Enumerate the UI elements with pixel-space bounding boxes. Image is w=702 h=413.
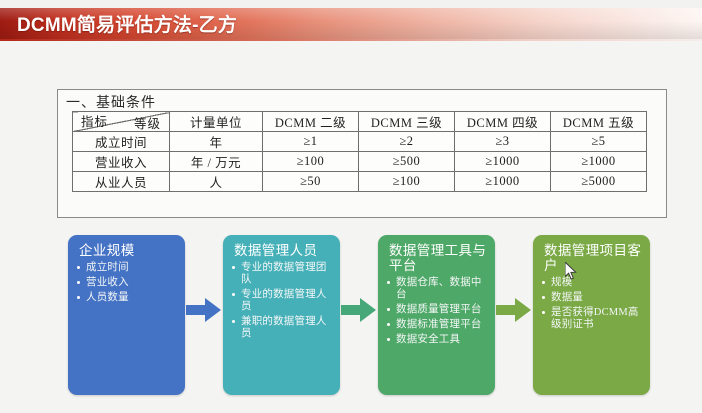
flow-card-company-scale: 企业规模 成立时间 营业收入 人员数量 bbox=[68, 235, 185, 395]
cell-level-3: ≥100 bbox=[359, 172, 455, 192]
evaluation-flow-diagram: 企业规模 成立时间 营业收入 人员数量 数据管理人员 专业的数据管理团队 专业的… bbox=[0, 235, 702, 400]
section-heading: 一、基础条件 bbox=[66, 92, 156, 112]
flow-arrow-3-icon bbox=[496, 297, 532, 323]
cell-indicator: 营业收入 bbox=[73, 152, 170, 172]
flow-card-bullet-list: 数据仓库、数据中台 数据质量管理平台 数据标准管理平台 数据安全工具 bbox=[387, 277, 487, 346]
flow-arrow-2-icon bbox=[341, 297, 377, 323]
column-header-level-5: DCMM 五级 bbox=[551, 112, 647, 132]
cell-unit: 人 bbox=[170, 172, 263, 192]
cell-unit: 年 bbox=[170, 132, 263, 152]
title-banner: DCMM简易评估方法-乙方 bbox=[0, 8, 702, 39]
cell-level-3: ≥2 bbox=[359, 132, 455, 152]
mouse-cursor-icon bbox=[565, 262, 578, 281]
list-item: 专业的数据管理人员 bbox=[232, 289, 332, 313]
cell-level-5: ≥1000 bbox=[551, 152, 647, 172]
page-title: DCMM简易评估方法-乙方 bbox=[17, 10, 237, 37]
cell-level-4: ≥3 bbox=[455, 132, 551, 152]
flow-card-bullet-list: 专业的数据管理团队 专业的数据管理人员 兼职的数据管理人员 bbox=[232, 262, 332, 340]
column-header-level-4: DCMM 四级 bbox=[455, 112, 551, 132]
list-item: 人员数量 bbox=[77, 292, 177, 304]
flow-card-project-clients: 数据管理项目客户 规模 数据量 是否获得DCMM高级别证书 bbox=[533, 235, 650, 395]
flow-card-bullet-list: 规模 数据量 是否获得DCMM高级别证书 bbox=[542, 277, 642, 331]
list-item: 是否获得DCMM高级别证书 bbox=[542, 307, 642, 331]
cell-indicator: 成立时间 bbox=[73, 132, 170, 152]
basis-conditions-table: 等级 指标 计量单位 DCMM 二级 DCMM 三级 DCMM 四级 DCMM … bbox=[72, 111, 647, 192]
table-corner-cell: 等级 指标 bbox=[73, 112, 170, 132]
table-row: 营业收入 年 / 万元 ≥100 ≥500 ≥1000 ≥1000 bbox=[73, 152, 647, 172]
list-item: 数据质量管理平台 bbox=[387, 304, 487, 316]
column-header-level-2: DCMM 二级 bbox=[263, 112, 359, 132]
list-item: 成立时间 bbox=[77, 262, 177, 274]
cell-level-2: ≥1 bbox=[263, 132, 359, 152]
cell-level-5: ≥5 bbox=[551, 132, 647, 152]
list-item: 数据安全工具 bbox=[387, 334, 487, 346]
corner-level-label: 等级 bbox=[134, 113, 161, 132]
flow-card-title: 企业规模 bbox=[79, 243, 177, 258]
cell-level-3: ≥500 bbox=[359, 152, 455, 172]
list-item: 数据仓库、数据中台 bbox=[387, 277, 487, 301]
flow-card-title: 数据管理人员 bbox=[234, 243, 332, 258]
cell-level-5: ≥5000 bbox=[551, 172, 647, 192]
cell-level-2: ≥50 bbox=[263, 172, 359, 192]
flow-card-bullet-list: 成立时间 营业收入 人员数量 bbox=[77, 262, 177, 304]
table-row: 成立时间 年 ≥1 ≥2 ≥3 ≥5 bbox=[73, 132, 647, 152]
cell-level-4: ≥1000 bbox=[455, 172, 551, 192]
flow-card-tools-platform: 数据管理工具与平台 数据仓库、数据中台 数据质量管理平台 数据标准管理平台 数据… bbox=[378, 235, 495, 395]
cell-unit: 年 / 万元 bbox=[170, 152, 263, 172]
list-item: 兼职的数据管理人员 bbox=[232, 316, 332, 340]
column-header-unit: 计量单位 bbox=[170, 112, 263, 132]
list-item: 数据量 bbox=[542, 292, 642, 304]
flow-card-title: 数据管理工具与平台 bbox=[389, 243, 487, 273]
corner-indicator-label: 指标 bbox=[81, 111, 108, 130]
column-header-level-3: DCMM 三级 bbox=[359, 112, 455, 132]
flow-card-data-staff: 数据管理人员 专业的数据管理团队 专业的数据管理人员 兼职的数据管理人员 bbox=[223, 235, 340, 395]
cell-level-4: ≥1000 bbox=[455, 152, 551, 172]
cell-indicator: 从业人员 bbox=[73, 172, 170, 192]
list-item: 专业的数据管理团队 bbox=[232, 262, 332, 286]
list-item: 数据标准管理平台 bbox=[387, 319, 487, 331]
list-item: 规模 bbox=[542, 277, 642, 289]
cell-level-2: ≥100 bbox=[263, 152, 359, 172]
flow-card-title: 数据管理项目客户 bbox=[544, 243, 642, 273]
table-row: 从业人员 人 ≥50 ≥100 ≥1000 ≥5000 bbox=[73, 172, 647, 192]
flow-arrow-1-icon bbox=[186, 297, 222, 323]
list-item: 营业收入 bbox=[77, 277, 177, 289]
document-page: 一、基础条件 等级 指标 计量单位 DCMM 二级 DCMM 三级 DCMM 四… bbox=[0, 41, 702, 413]
table-header-row: 等级 指标 计量单位 DCMM 二级 DCMM 三级 DCMM 四级 DCMM … bbox=[73, 112, 647, 132]
